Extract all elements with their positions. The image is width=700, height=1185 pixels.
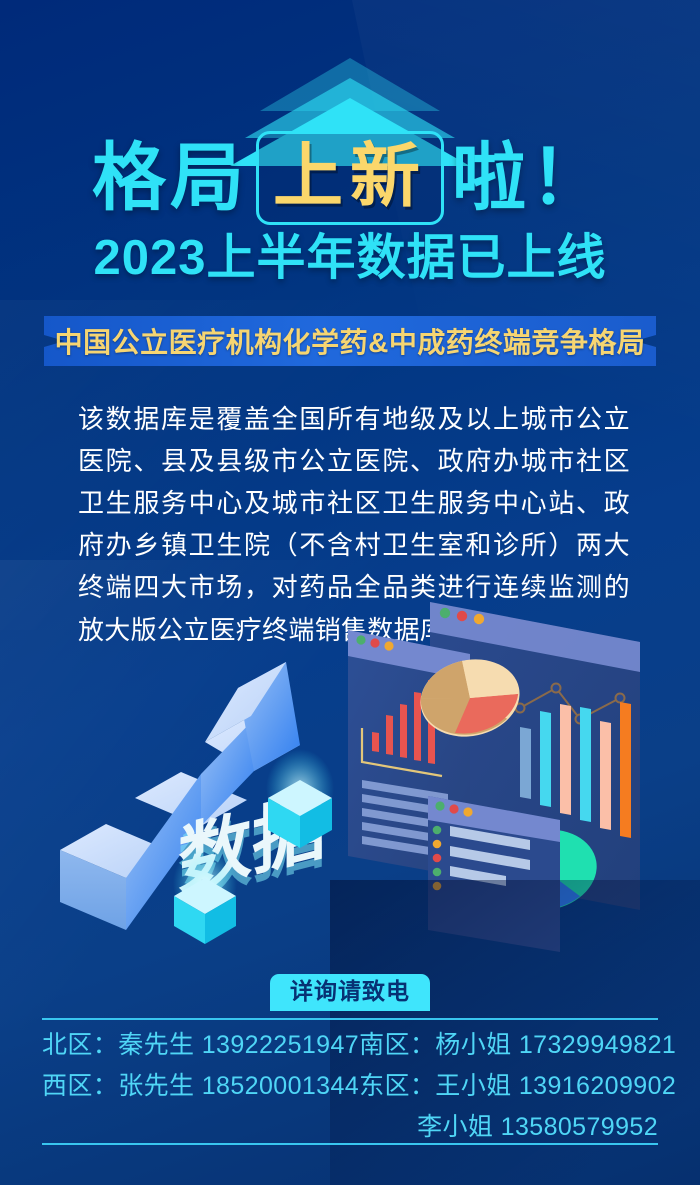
window-dot-yellow bbox=[474, 614, 484, 624]
dashboard-illustration: 数据 数据 bbox=[0, 580, 700, 980]
contact-west[interactable]: 西区：张先生 18520001344 bbox=[42, 1067, 359, 1106]
page-subtitle: 2023上半年数据已上线 bbox=[0, 231, 700, 286]
window-dot-red bbox=[370, 638, 379, 647]
title-highlight-box: 上新 bbox=[256, 131, 444, 225]
window-dot-green bbox=[356, 635, 365, 644]
contact-list: 北区：秦先生 13922251947 南区：杨小姐 17329949821 西区… bbox=[42, 1026, 658, 1146]
contact-divider-bottom bbox=[42, 1143, 658, 1145]
window-dot-green bbox=[435, 801, 444, 810]
window-dot-green bbox=[440, 608, 450, 618]
glowing-cube bbox=[266, 745, 334, 848]
window-dot-red bbox=[457, 611, 467, 621]
contact-divider-top bbox=[42, 1018, 658, 1020]
poster-root: 格局 上新 啦！ 2023上半年数据已上线 中国公立医疗机构化学药&中成药终端竞… bbox=[0, 0, 700, 1185]
banner-label: 中国公立医疗机构化学药&中成药终端竞争格局 bbox=[44, 316, 656, 366]
contact-extra[interactable]: 李小姐 13580579952 bbox=[417, 1108, 658, 1147]
list-item: 李小姐 13580579952 bbox=[42, 1108, 658, 1147]
window-dot-red bbox=[449, 804, 458, 813]
contact-east[interactable]: 东区：王小姐 13916209902 bbox=[359, 1067, 676, 1106]
window-dot-yellow bbox=[384, 641, 393, 650]
banner: 中国公立医疗机构化学药&中成药终端竞争格局 bbox=[44, 316, 656, 366]
list-item: 西区：张先生 18520001344 东区：王小姐 13916209902 bbox=[42, 1067, 658, 1106]
page-title: 格局 上新 啦！ bbox=[0, 128, 700, 228]
window-front bbox=[428, 796, 560, 952]
contact-south[interactable]: 南区：杨小姐 17329949821 bbox=[359, 1026, 676, 1065]
contact-badge: 详询请致电 bbox=[0, 974, 700, 1011]
contact-badge-label: 详询请致电 bbox=[270, 974, 430, 1011]
list-item: 北区：秦先生 13922251947 南区：杨小姐 17329949821 bbox=[42, 1026, 658, 1065]
title-highlight: 上新 bbox=[273, 141, 427, 211]
title-left: 格局 bbox=[92, 141, 248, 215]
title-right: 啦！ bbox=[452, 141, 608, 215]
window-dot-yellow bbox=[463, 807, 472, 816]
contact-north[interactable]: 北区：秦先生 13922251947 bbox=[42, 1026, 359, 1065]
glowing-cube bbox=[173, 842, 237, 944]
